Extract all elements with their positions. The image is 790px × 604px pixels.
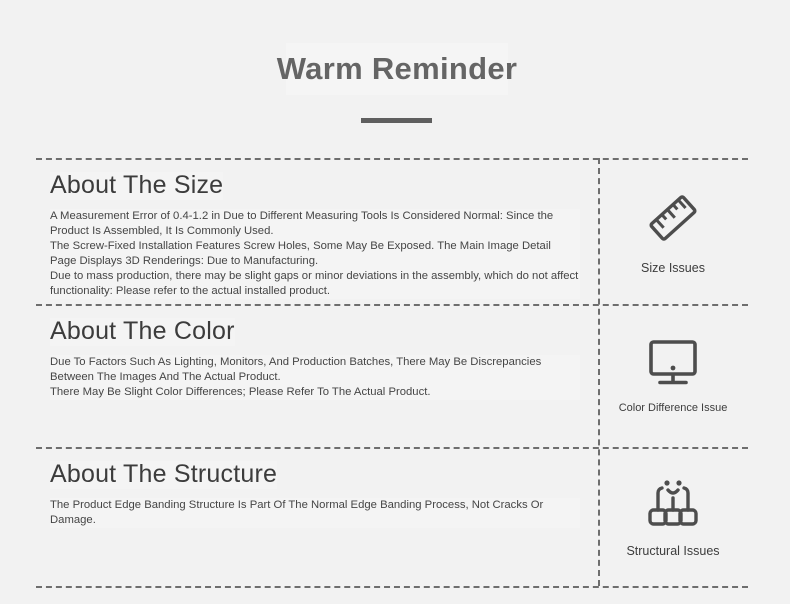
section-size-body: A Measurement Error of 0.4-1.2 in Due to… <box>50 209 580 299</box>
reminder-grid: About The Size A Measurement Error of 0.… <box>36 158 748 586</box>
section-size-paragraph-1: A Measurement Error of 0.4-1.2 in Due to… <box>50 209 580 239</box>
section-size-text: About The Size A Measurement Error of 0.… <box>36 158 598 304</box>
section-color-title: About The Color <box>50 318 235 346</box>
section-size-title: About The Size <box>50 172 223 200</box>
section-structure: About The Structure The Product Edge Ban… <box>36 447 748 586</box>
ruler-icon <box>642 187 704 249</box>
title-underline-bar <box>361 118 432 123</box>
section-structure-icon-label: Structural Issues <box>626 544 719 558</box>
section-structure-text: About The Structure The Product Edge Ban… <box>36 447 598 586</box>
section-color: About The Color Due To Factors Such As L… <box>36 304 748 447</box>
section-structure-body: The Product Edge Banding Structure Is Pa… <box>50 498 580 528</box>
section-color-body: Due To Factors Such As Lighting, Monitor… <box>50 355 580 400</box>
page-title-container: Warm Reminder <box>286 43 508 95</box>
section-structure-title: About The Structure <box>50 461 277 489</box>
section-structure-icon-cell: Structural Issues <box>598 447 748 586</box>
page-header: Warm Reminder <box>0 0 790 150</box>
structure-icon <box>644 476 702 532</box>
section-color-text: About The Color Due To Factors Such As L… <box>36 304 598 447</box>
section-size-icon-cell: Size Issues <box>598 158 748 304</box>
section-size-paragraph-3: Due to mass production, there may be sli… <box>50 269 580 299</box>
section-color-icon-label: Color Difference Issue <box>619 402 728 414</box>
section-size: About The Size A Measurement Error of 0.… <box>36 158 748 304</box>
section-size-paragraph-2: The Screw-Fixed Installation Features Sc… <box>50 239 580 269</box>
divider-bottom <box>36 586 748 588</box>
section-color-paragraph-1: Due To Factors Such As Lighting, Monitor… <box>50 355 580 385</box>
section-color-icon-cell: Color Difference Issue <box>598 304 748 447</box>
section-size-icon-label: Size Issues <box>641 261 705 275</box>
section-structure-paragraph-1: The Product Edge Banding Structure Is Pa… <box>50 498 580 528</box>
section-color-paragraph-2: There May Be Slight Color Differences; P… <box>50 385 580 400</box>
monitor-icon <box>643 338 703 390</box>
page-title: Warm Reminder <box>277 51 517 87</box>
